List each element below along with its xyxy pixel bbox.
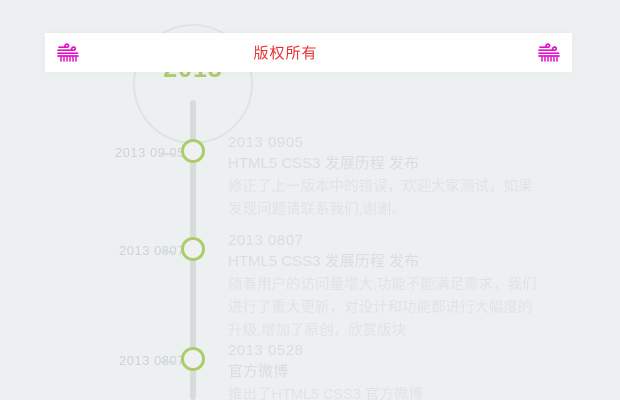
- entry-marker-dot[interactable]: [181, 347, 205, 371]
- entry-text: 修正了上一版本中的错误，欢迎大家测试，如果发现问题请联系我们,谢谢。: [228, 176, 538, 222]
- entry-connector-dash: [160, 251, 176, 253]
- entry-title[interactable]: HTML5 CSS3 发展历程 发布: [228, 153, 538, 175]
- wind-ornament-icon: [526, 42, 572, 64]
- entry-connector-dash: [160, 361, 176, 363]
- entry-text: 随着用户的访问量增大,功能不能满足需求，我们进行了重大更新，对设计和功能都进行大…: [228, 274, 538, 343]
- entry-title[interactable]: 官方微博: [228, 361, 538, 383]
- entry-date: 2013 0528: [228, 341, 538, 361]
- entry-body: 2013 0807HTML5 CSS3 发展历程 发布随着用户的访问量增大,功能…: [228, 231, 538, 343]
- entry-text: 推出了HTML5 CSS3 官方微博: [228, 384, 538, 400]
- entry-body: 2013 0528官方微博推出了HTML5 CSS3 官方微博: [228, 341, 538, 400]
- entry-title[interactable]: HTML5 CSS3 发展历程 发布: [228, 251, 538, 273]
- entry-date: 2013 0905: [228, 133, 538, 153]
- timeline-page: 2013 2013 09 052013 0905HTML5 CSS3 发展历程 …: [0, 0, 620, 400]
- entry-marker-dot[interactable]: [181, 139, 205, 163]
- entry-date: 2013 0807: [228, 231, 538, 251]
- entry-body: 2013 0905HTML5 CSS3 发展历程 发布修正了上一版本中的错误，欢…: [228, 133, 538, 222]
- entry-marker-dot[interactable]: [181, 237, 205, 261]
- banner-title: 版权所有: [45, 42, 526, 63]
- copyright-banner: 版权所有: [45, 33, 572, 72]
- entry-connector-dash: [160, 153, 176, 155]
